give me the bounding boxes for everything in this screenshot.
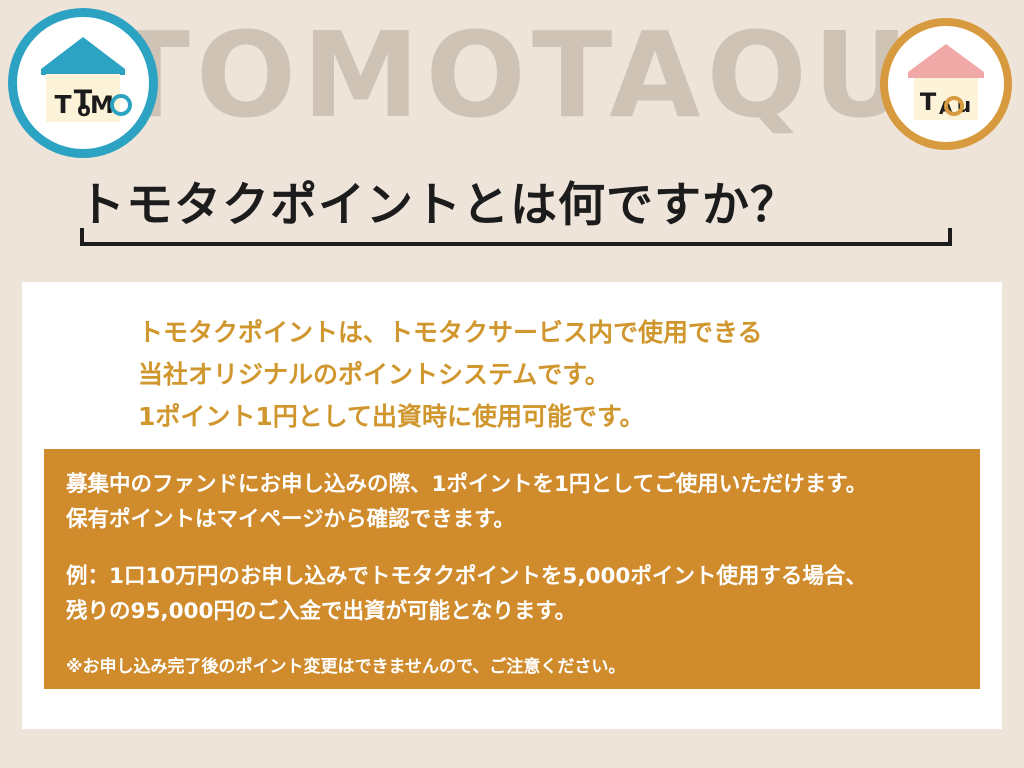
logo-tomo: T T o M: [8, 8, 158, 158]
page-title: トモタクポイントとは何ですか？: [78, 176, 958, 262]
panel-block2-line-2: 残りの95,000円のご入金で出資が可能となります。: [66, 594, 958, 629]
page-title-text: トモタクポイントとは何ですか？: [78, 176, 958, 236]
slide: TOMOTAQU T T o M T A u トモタクポイントとは何ですか？: [0, 0, 1024, 768]
lead-line-2: 当社オリジナルのポイントシステムです。: [138, 354, 978, 396]
house-taqu-icon: T A u: [888, 26, 1004, 142]
lead-line-3: 1ポイント1円として出資時に使用可能です。: [138, 396, 978, 438]
title-underline-cap-right: [948, 228, 952, 246]
content-card: トモタクポイントは、トモタクサービス内で使用できる 当社オリジナルのポイントシス…: [22, 282, 1002, 729]
title-underline: [80, 242, 952, 246]
bottom-strip: [0, 729, 1024, 768]
panel-note: ※お申し込み完了後のポイント変更はできませんので、ご注意ください。: [66, 653, 958, 681]
lead-line-1: トモタクポイントは、トモタクサービス内で使用できる: [138, 312, 978, 354]
panel-spacer: [66, 537, 958, 559]
house-tomo-icon: T T o M: [17, 17, 149, 149]
title-underline-cap-left: [80, 228, 84, 246]
panel-block1-line-1: 募集中のファンドにお申し込みの際、1ポイントを1円としてご使用いただけます。: [66, 467, 958, 502]
svg-text:o: o: [77, 97, 91, 121]
svg-text:T: T: [54, 90, 71, 119]
lead-paragraph: トモタクポイントは、トモタクサービス内で使用できる 当社オリジナルのポイントシス…: [138, 312, 978, 438]
panel-block2-line-1: 例：1口10万円のお申し込みでトモタクポイントを5,000ポイント使用する場合、: [66, 559, 958, 594]
svg-text:T: T: [920, 88, 937, 116]
logo-taqu: T A u: [880, 18, 1012, 150]
panel-block1-line-2: 保有ポイントはマイページから確認できます。: [66, 502, 958, 537]
detail-panel: 募集中のファンドにお申し込みの際、1ポイントを1円としてご使用いただけます。 保…: [44, 449, 980, 689]
